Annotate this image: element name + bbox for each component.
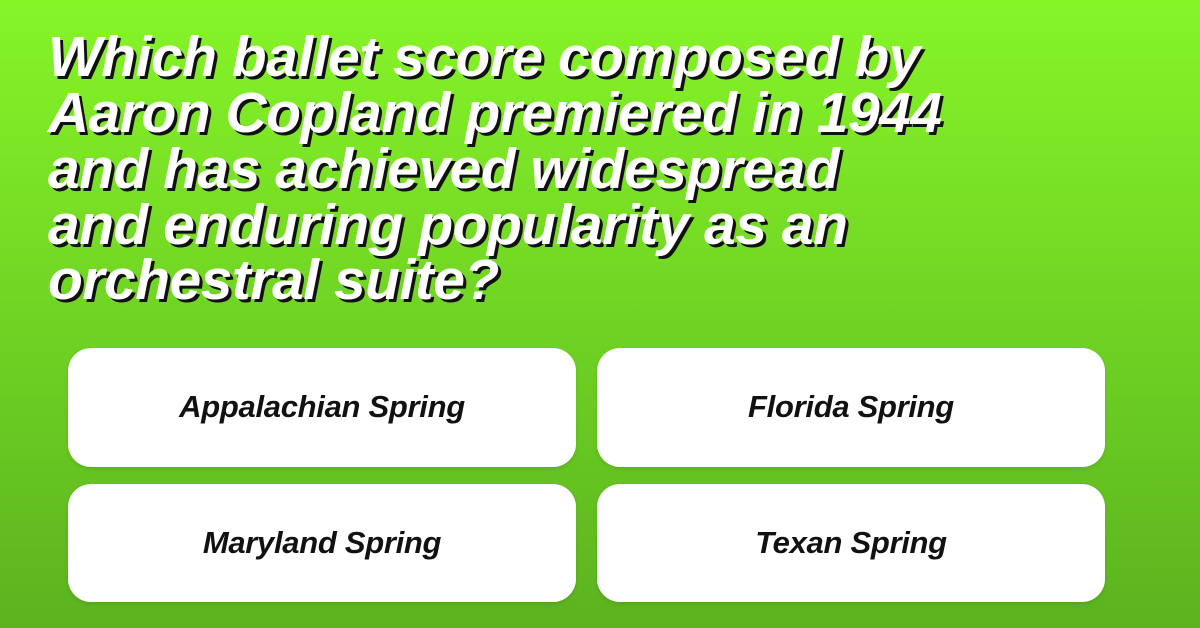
quiz-card: Which ballet score composed by Aaron Cop…: [0, 0, 1200, 628]
answer-options-grid: Appalachian Spring Florida Spring Maryla…: [68, 348, 1105, 602]
answer-option-b[interactable]: Florida Spring: [597, 348, 1105, 467]
answer-option-a[interactable]: Appalachian Spring: [68, 348, 576, 467]
answer-option-c[interactable]: Maryland Spring: [68, 484, 576, 603]
answer-option-d-label: Texan Spring: [755, 526, 947, 560]
question-area: Which ballet score composed by Aaron Cop…: [0, 0, 1200, 309]
answer-option-b-label: Florida Spring: [748, 390, 954, 424]
answer-option-d[interactable]: Texan Spring: [597, 484, 1105, 603]
question-text: Which ballet score composed by Aaron Cop…: [48, 30, 1160, 309]
answer-option-a-label: Appalachian Spring: [179, 390, 465, 424]
answer-option-c-label: Maryland Spring: [203, 526, 441, 560]
